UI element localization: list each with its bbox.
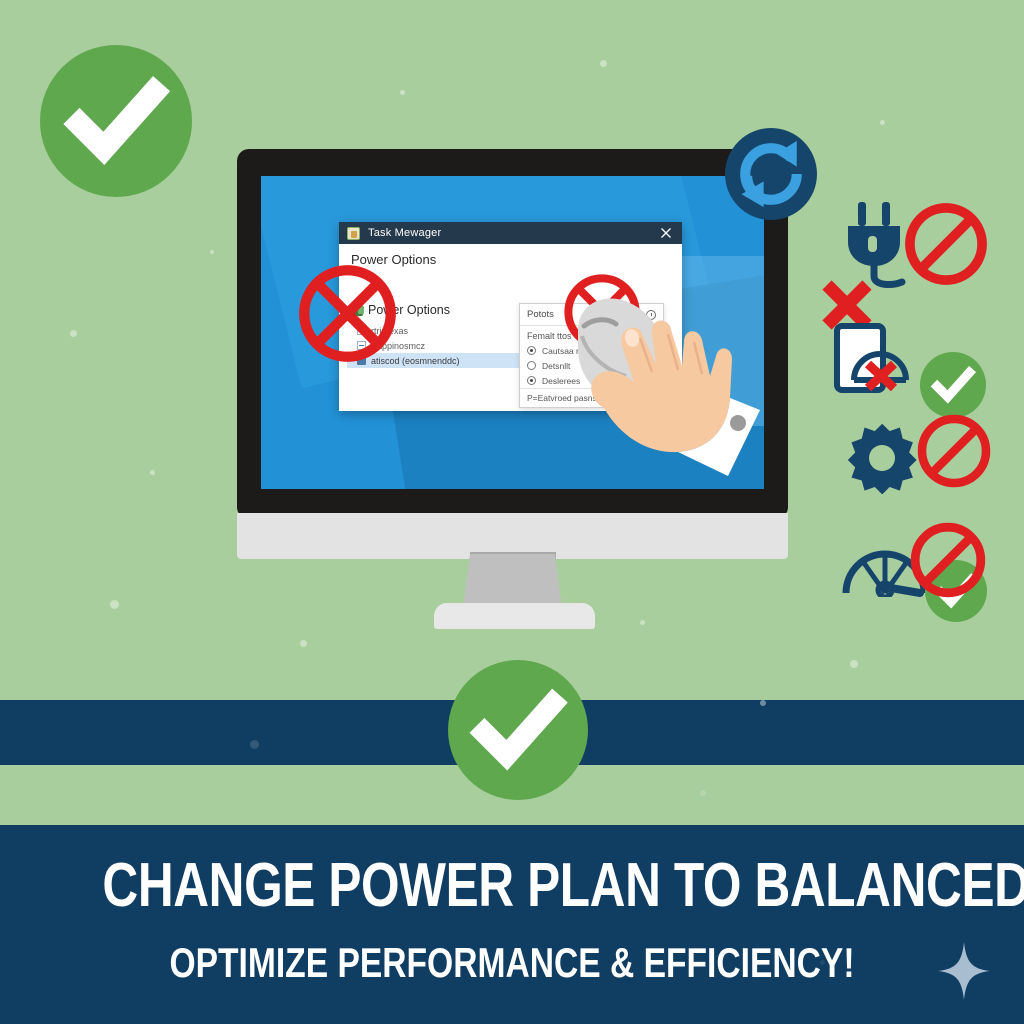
check-badge-bottom-center xyxy=(448,660,588,800)
prohibition-icon-gauge xyxy=(908,520,988,600)
headline-text: CHANGE POWER PLAN TO BALANCED xyxy=(102,855,921,917)
speckle xyxy=(150,470,155,475)
sparkle-icon xyxy=(938,942,990,1000)
radio-button-selected[interactable] xyxy=(527,376,536,385)
speckle xyxy=(600,60,607,67)
close-icon[interactable] xyxy=(658,225,674,241)
speckle xyxy=(300,640,307,647)
window-title-bar: Task Mewager xyxy=(339,222,682,244)
speckle xyxy=(850,660,858,668)
gear-icon xyxy=(845,420,919,494)
monitor-base xyxy=(434,603,595,629)
speckle xyxy=(640,620,645,625)
speckle xyxy=(110,600,119,609)
speckle xyxy=(70,330,77,337)
headline-container: CHANGE POWER PLAN TO BALANCED xyxy=(0,855,1024,917)
app-icon xyxy=(347,227,360,240)
prohibition-icon-tree xyxy=(296,262,399,365)
document-gauge-icon xyxy=(832,318,910,396)
radio-button[interactable] xyxy=(527,361,536,370)
check-badge-top-left xyxy=(40,45,192,197)
hand-with-mouse xyxy=(560,290,770,480)
prohibition-icon-plug xyxy=(902,200,990,288)
infographic-canvas: Task Mewager Power Options Power Options… xyxy=(0,0,1024,1024)
subhead-text: OPTIMIZE PERFORMANCE & EFFICIENCY! xyxy=(102,942,921,984)
radio-button-selected[interactable] xyxy=(527,346,536,355)
popup-title: Potots xyxy=(527,309,554,320)
check-badge-right-upper xyxy=(920,352,986,418)
window-title: Task Mewager xyxy=(368,227,441,239)
speckle xyxy=(210,250,214,254)
prohibition-icon-gear xyxy=(915,412,993,490)
subhead-container: OPTIMIZE PERFORMANCE & EFFICIENCY! xyxy=(0,942,1024,984)
speckle xyxy=(880,120,885,125)
speckle xyxy=(400,90,405,95)
refresh-icon xyxy=(725,128,817,220)
refresh-badge xyxy=(725,128,817,220)
